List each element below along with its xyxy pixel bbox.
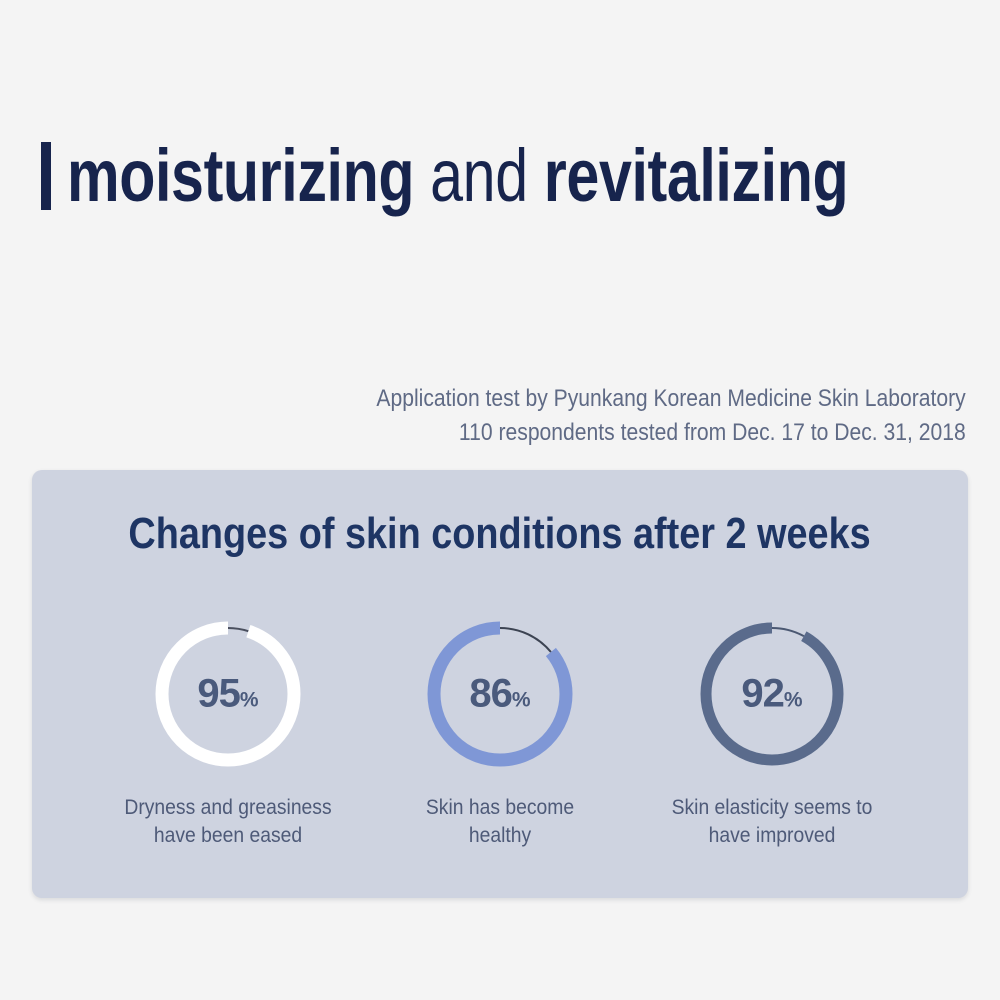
- promo-page: moisturizing and revitalizing Applicatio…: [0, 0, 1000, 1000]
- stat-item: 86% Skin has become healthy: [375, 618, 625, 850]
- donut-chart-2: 86%: [424, 618, 576, 770]
- donut-1-caption-line-1: Dryness and greasiness: [113, 794, 343, 822]
- donut-1-label: 95%: [152, 672, 304, 717]
- donut-2-unit: %: [512, 689, 531, 712]
- donut-chart-1: 95%: [152, 618, 304, 770]
- donut-chart-3: 92%: [696, 618, 848, 770]
- donut-3-caption: Skin elasticity seems to have improved: [647, 794, 897, 850]
- donut-2-value: 86: [469, 672, 512, 716]
- study-attribution-line-1: Application test by Pyunkang Korean Medi…: [377, 382, 966, 416]
- study-attribution: Application test by Pyunkang Korean Medi…: [296, 382, 966, 450]
- study-attribution-line-2: 110 respondents tested from Dec. 17 to D…: [377, 416, 966, 450]
- donut-3-label: 92%: [696, 672, 848, 717]
- results-card-title-text: Changes of skin conditions after 2 weeks: [129, 508, 871, 560]
- donut-3-value: 92: [741, 672, 784, 716]
- headline-text: moisturizing and revitalizing: [67, 136, 848, 216]
- donut-1-caption: Dryness and greasiness have been eased: [103, 794, 353, 850]
- donut-3-caption-line-2: have improved: [657, 822, 887, 850]
- donut-2-caption-line-1: Skin has become: [385, 794, 615, 822]
- stat-item: 92% Skin elasticity seems to have improv…: [647, 618, 897, 850]
- donut-2-label: 86%: [424, 672, 576, 717]
- headline-conjunction: and: [414, 134, 544, 217]
- headline-word-moisturizing: moisturizing: [67, 134, 414, 217]
- donut-1-value: 95: [197, 672, 240, 716]
- stat-item: 95% Dryness and greasiness have been eas…: [103, 618, 353, 850]
- donut-1-caption-line-2: have been eased: [113, 822, 343, 850]
- results-card-title: Changes of skin conditions after 2 weeks: [32, 508, 968, 560]
- donut-3-caption-line-1: Skin elasticity seems to: [657, 794, 887, 822]
- results-card: Changes of skin conditions after 2 weeks…: [32, 470, 968, 898]
- page-headline: moisturizing and revitalizing: [41, 128, 1000, 224]
- donut-2-caption-line-2: healthy: [385, 822, 615, 850]
- donut-2-caption: Skin has become healthy: [375, 794, 625, 850]
- donut-1-unit: %: [240, 689, 259, 712]
- headline-accent-bar: [41, 142, 51, 210]
- donut-3-unit: %: [784, 689, 803, 712]
- headline-word-revitalizing: revitalizing: [544, 134, 848, 217]
- donut-chart-row: 95% Dryness and greasiness have been eas…: [92, 618, 908, 850]
